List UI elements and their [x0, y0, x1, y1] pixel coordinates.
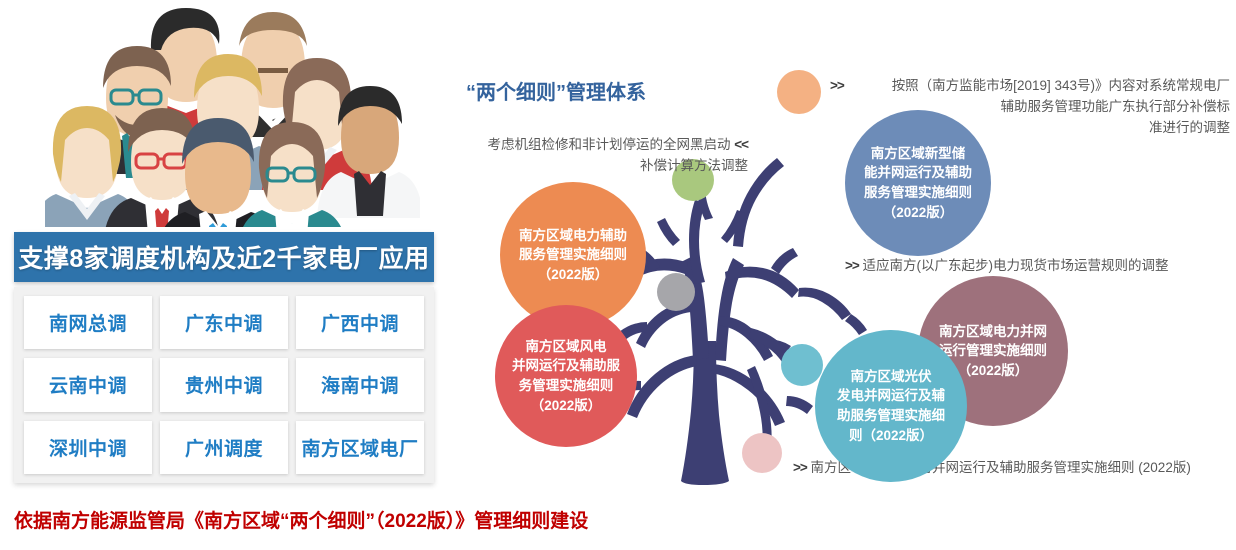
bubble-line: 发电并网运行及辅	[837, 386, 945, 406]
gray-dot	[657, 273, 695, 311]
callout-line: 考虑机组检修和非计划停运的全网黑启动 <<	[448, 135, 748, 156]
pink-dot	[742, 433, 782, 473]
bubble-line: 能并网运行及辅助	[864, 163, 972, 183]
bubble-line: 南方区域新型储	[871, 144, 966, 164]
support-banner-text: 支撑8家调度机构及近2千家电厂应用	[18, 239, 429, 275]
callout-line: 补偿计算方法调整	[448, 156, 748, 177]
agency-cell[interactable]: 海南中调	[296, 358, 424, 411]
bubble-line: 南方区域电力辅助	[519, 226, 627, 246]
arrow-left-icon: <<	[734, 137, 748, 152]
callout-text: 考虑机组检修和非计划停运的全网黑启动	[487, 137, 730, 152]
bubble-line: 南方区域光伏	[851, 367, 932, 387]
agency-cell[interactable]: 南方区域电厂	[296, 421, 424, 474]
crowd-of-people-illustration	[45, 2, 420, 227]
bubble-line: 并网运行及辅助服	[512, 356, 620, 376]
slide-root: 支撑8家调度机构及近2千家电厂应用 南网总调 广东中调 广西中调 云南中调 贵州…	[0, 0, 1236, 550]
bubble-line: 务管理实施细则	[519, 376, 614, 396]
agency-cell[interactable]: 南网总调	[24, 296, 152, 349]
callout-text: 适应南方(以广东起步)电力现货市场运营规则的调整	[863, 258, 1169, 273]
agency-cell[interactable]: 广东中调	[160, 296, 288, 349]
bubble-storage[interactable]: 南方区域新型储 能并网运行及辅助 服务管理实施细则 （2022版）	[845, 110, 991, 256]
callout-spot-market: >> 适应南方(以广东起步)电力现货市场运营规则的调整	[845, 256, 1169, 277]
bubble-line: （2022版）	[531, 396, 602, 416]
bubble-line: （2022版）	[538, 265, 609, 285]
agency-cell[interactable]: 贵州中调	[160, 358, 288, 411]
support-banner: 支撑8家调度机构及近2千家电厂应用	[14, 232, 434, 282]
bubble-line: 服务管理实施细则	[519, 245, 627, 265]
bubble-photovoltaic[interactable]: 南方区域光伏 发电并网运行及辅 助服务管理实施细 则（2022版）	[815, 330, 967, 482]
arrow-right-icon: >>	[830, 76, 844, 97]
bubble-line: （2022版）	[958, 361, 1029, 381]
bubble-line: （2022版）	[883, 203, 954, 223]
callout-line: 按照（南方监能市场[2019] 343号)》内容对系统常规电厂	[830, 76, 1230, 97]
agency-grid-panel: 南网总调 广东中调 广西中调 云南中调 贵州中调 海南中调 深圳中调 广州调度 …	[14, 287, 434, 483]
arrow-right-icon: >>	[793, 460, 807, 475]
bubble-line: 南方区域电力并网	[939, 322, 1047, 342]
bubble-line: 助服务管理实施细	[837, 406, 945, 426]
bubble-line: 南方区域风电	[526, 337, 607, 357]
teal-dot	[781, 344, 823, 386]
callout-blackstart: 考虑机组检修和非计划停运的全网黑启动 << 补偿计算方法调整	[448, 135, 748, 177]
arrow-right-icon: >>	[845, 258, 859, 273]
footer-note: 依据南方能源监管局《南方区域“两个细则”（2022版）》管理细则建设	[14, 506, 714, 533]
bubble-wind[interactable]: 南方区域风电 并网运行及辅助服 务管理实施细则 （2022版）	[495, 305, 637, 447]
agency-cell[interactable]: 深圳中调	[24, 421, 152, 474]
bubble-line: 运行管理实施细则	[939, 341, 1047, 361]
agency-cell[interactable]: 广西中调	[296, 296, 424, 349]
bubble-line: 则（2022版）	[849, 426, 933, 446]
agency-grid: 南网总调 广东中调 广西中调 云南中调 贵州中调 海南中调 深圳中调 广州调度 …	[24, 296, 424, 474]
orange-dot	[777, 70, 821, 114]
bubble-line: 服务管理实施细则	[864, 183, 972, 203]
agency-cell[interactable]: 云南中调	[24, 358, 152, 411]
agency-cell[interactable]: 广州调度	[160, 421, 288, 474]
